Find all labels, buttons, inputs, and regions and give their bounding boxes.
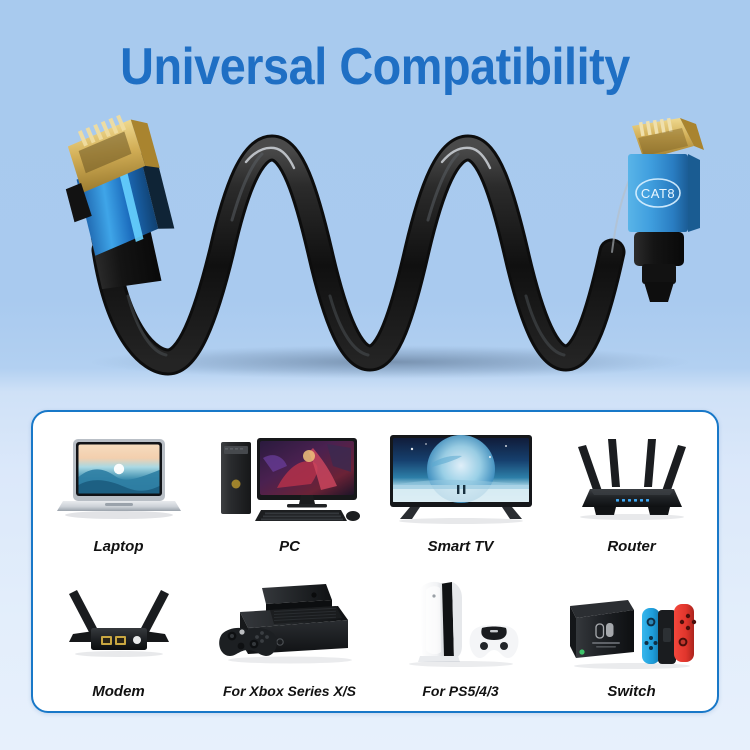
rj45-plug-left <box>57 109 182 292</box>
device-cell-modem: Modem <box>33 564 204 709</box>
device-label-laptop: Laptop <box>94 538 144 564</box>
device-cell-smart-tv: Smart TV <box>375 418 546 564</box>
device-cell-switch: Switch <box>546 564 717 709</box>
hero-cable-illustration: CAT8 <box>0 100 750 400</box>
laptop-icon <box>33 418 204 538</box>
device-cell-pc: PC <box>204 418 375 564</box>
device-label-modem: Modem <box>92 683 145 709</box>
smart-tv-icon <box>375 418 546 538</box>
cable-ribbon <box>105 148 630 362</box>
nintendo-switch-icon <box>546 564 717 683</box>
device-row-1: Laptop <box>33 418 717 564</box>
device-label-xbox: For Xbox Series X/S <box>223 683 356 709</box>
device-cell-laptop: Laptop <box>33 418 204 564</box>
device-label-router: Router <box>607 538 655 564</box>
device-cell-playstation: For PS5/4/3 <box>375 564 546 709</box>
xbox-console-icon <box>204 564 375 683</box>
page-title: Universal Compatibility <box>38 38 713 96</box>
product-marketing-image: Universal Compatibility <box>0 0 750 750</box>
modem-icon <box>33 564 204 683</box>
device-label-smart-tv: Smart TV <box>428 538 494 564</box>
device-label-switch: Switch <box>607 683 655 709</box>
device-cell-router: Router <box>546 418 717 564</box>
rj45-plug-right: CAT8 <box>628 118 704 302</box>
device-label-pc: PC <box>279 538 300 564</box>
compatibility-panel: Laptop <box>31 410 719 713</box>
device-label-playstation: For PS5/4/3 <box>422 683 498 709</box>
cat8-label: CAT8 <box>641 186 675 201</box>
playstation-console-icon <box>375 564 546 683</box>
desktop-pc-icon <box>204 418 375 538</box>
router-icon <box>546 418 717 538</box>
device-row-2: Modem <box>33 564 717 709</box>
device-cell-xbox: For Xbox Series X/S <box>204 564 375 709</box>
